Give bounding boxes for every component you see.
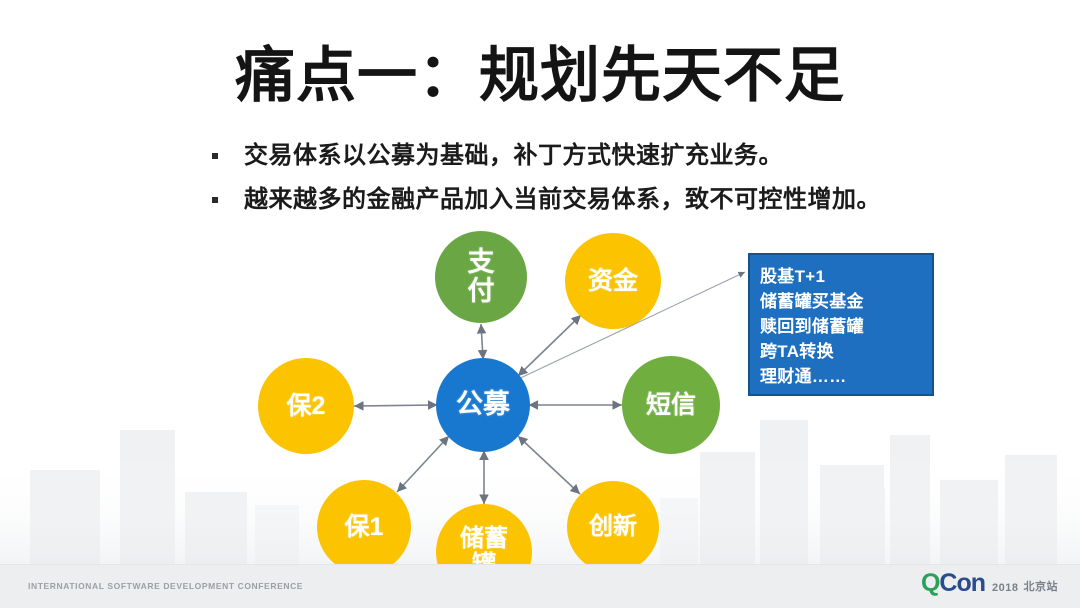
footer-tagline: INTERNATIONAL SOFTWARE DEVELOPMENT CONFE… [28, 581, 303, 591]
callout-line: 赎回到储蓄罐 [760, 314, 932, 339]
callout-line: 储蓄罐买基金 [760, 289, 932, 314]
node-label: 支付 [464, 248, 499, 306]
node-label: 创新 [585, 514, 641, 540]
diagram-node-zhifu[interactable]: 支付 [435, 231, 527, 323]
diagram-node-bao2[interactable]: 保2 [258, 358, 354, 454]
qcon-city: 北京站 [1024, 578, 1059, 594]
callout-line: 理财通…… [760, 364, 932, 389]
qcon-year: 2018 [992, 582, 1018, 594]
callout-box: 股基T+1储蓄罐买基金赎回到储蓄罐跨TA转换理财通…… [748, 253, 934, 396]
diagram-node-bao1[interactable]: 保1 [317, 480, 411, 574]
callout-line: 股基T+1 [760, 264, 932, 289]
qcon-logo: Q Con 2018 北京站 [921, 571, 1058, 596]
qcon-logo-con: Con [939, 571, 985, 596]
node-label: 短信 [642, 392, 700, 419]
callout-line: 跨TA转换 [760, 339, 932, 364]
diagram-node-zijin[interactable]: 资金 [565, 233, 661, 329]
node-label: 保1 [341, 514, 388, 541]
node-label: 资金 [584, 268, 642, 295]
qcon-logo-q: Q [921, 571, 939, 596]
slide-canvas: 痛点一：规划先天不足 交易体系以公募为基础，补丁方式快速扩充业务。 越来越多的金… [0, 0, 1080, 608]
diagram-node-duanxin[interactable]: 短信 [622, 356, 720, 454]
diagram-node-chuangxin[interactable]: 创新 [567, 481, 659, 573]
node-label: 公募 [452, 390, 514, 419]
diagram-node-center[interactable]: 公募 [436, 358, 530, 452]
node-label: 保2 [283, 393, 330, 420]
